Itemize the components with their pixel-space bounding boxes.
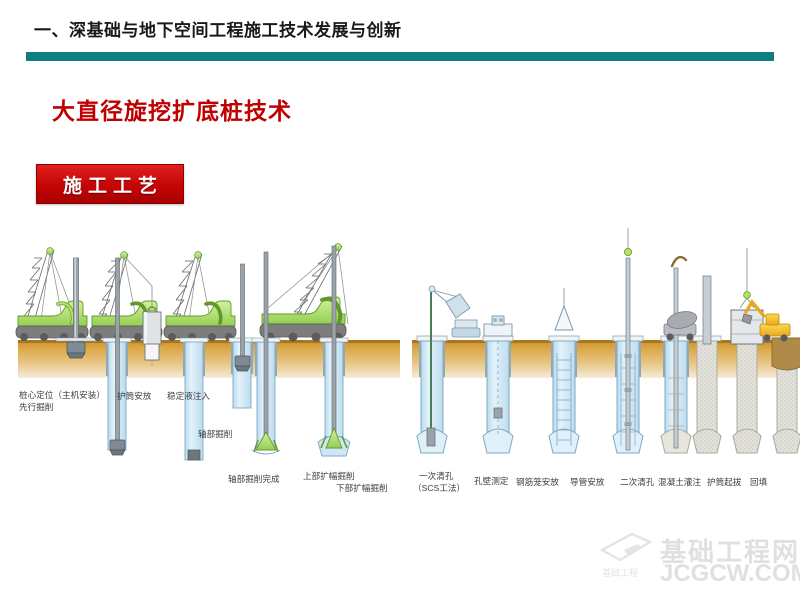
watermark-subtext: 基础工程 [602, 566, 638, 579]
step-label-8b: （SCS工法） [413, 482, 465, 493]
step-12-graphic [661, 257, 691, 453]
step-label-2: 护筒安放 [117, 390, 152, 401]
step-label-7: 下部扩幅掘削 [336, 482, 388, 493]
status-badge: 施工工艺 [36, 164, 184, 204]
slide: 一、深基础与地下空间工程施工技术发展与创新 大直径旋挖扩底桩技术 施工工艺 [0, 0, 800, 600]
step-label-1b: 先行掘削 [19, 401, 53, 412]
step-label-12: 二次清孔 [620, 476, 655, 487]
step-label-1: 桩心定位（主机安装） [19, 389, 105, 400]
step-label-6: 上部扩幅掘削 [303, 470, 355, 481]
step-9-graphic [483, 316, 513, 453]
step-label-8: 一次清孔 [419, 470, 454, 481]
step-label-11: 导管安放 [570, 476, 605, 487]
step-label-4: 轴部掘削 [198, 428, 232, 439]
step-4-graphic [103, 258, 131, 455]
step-label-10: 钢筋笼安放 [516, 476, 559, 487]
step-label-14: 护筒起拔 [707, 476, 742, 487]
watermark-logo-icon [598, 530, 654, 570]
step-label-13: 混凝土灌注 [658, 476, 701, 487]
step-label-9: 孔壁测定 [474, 475, 509, 486]
page-title: 一、深基础与地下空间工程施工技术发展与创新 [34, 16, 402, 41]
header-divider [26, 52, 774, 61]
watermark-en-text: JCGCW.COM [660, 560, 800, 588]
step-6-graphic [252, 252, 280, 454]
watermark-cn-text: 基础工程网 [660, 532, 800, 569]
construction-sequence-diagram: 桩心定位（主机安装） 先行掘削 护筒安放 稳定液注入 轴部掘削 轴部掘削完成 上… [0, 228, 800, 528]
section-title: 大直径旋挖扩底桩技术 [52, 92, 292, 126]
step-10-graphic [549, 288, 579, 453]
step-label-15: 回填 [750, 476, 768, 487]
ground-band-right [412, 340, 788, 378]
step-label-3: 稳定液注入 [167, 390, 210, 401]
step-11-graphic [613, 228, 643, 453]
step-label-5: 轴部掘削完成 [228, 473, 280, 484]
status-badge-label: 施工工艺 [57, 171, 163, 198]
step-3-graphic [164, 252, 255, 408]
watermark: 基础工程 基础工程网 JCGCW.COM [598, 530, 796, 594]
